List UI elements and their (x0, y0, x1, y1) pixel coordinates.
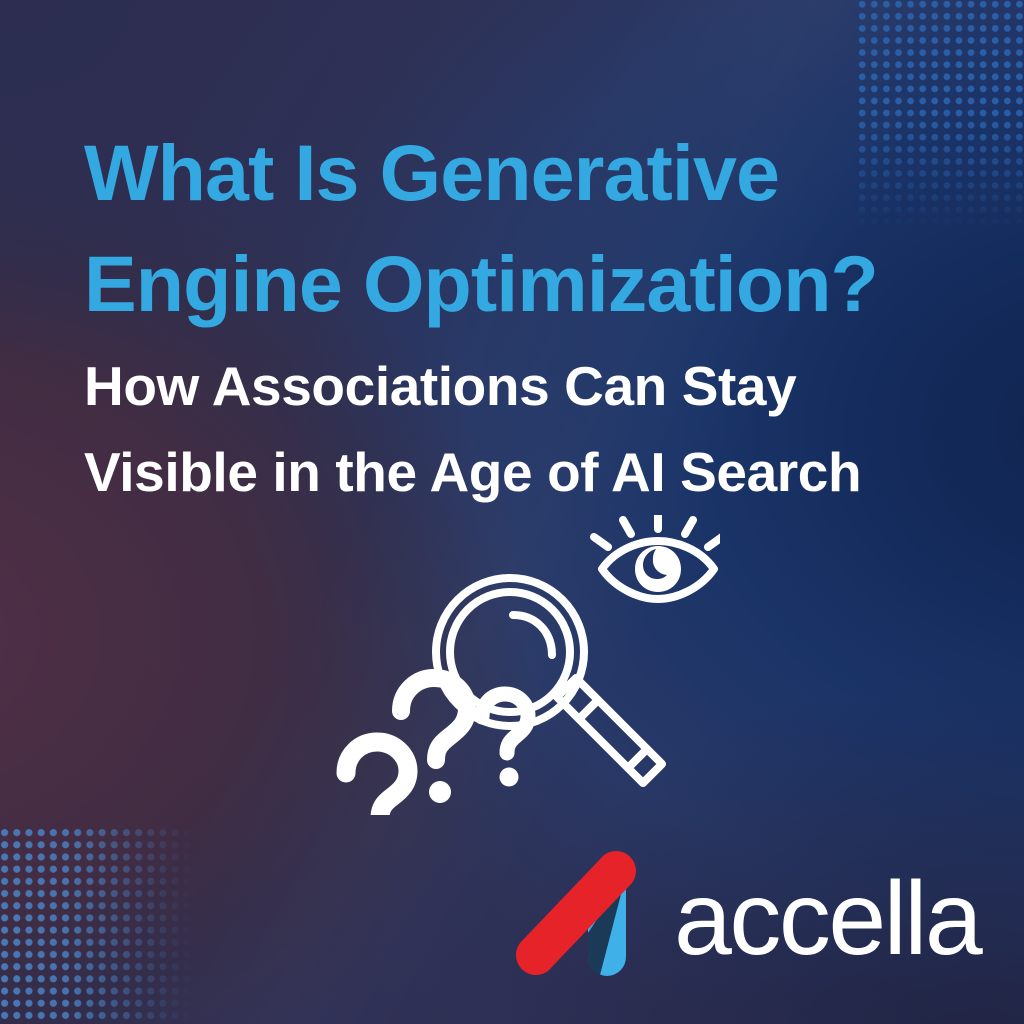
eye-icon (594, 515, 720, 599)
accella-a-mark (508, 845, 660, 985)
subtitle-line-1: How Associations Can Stay (84, 347, 964, 425)
accella-logo[interactable]: accella (508, 845, 968, 985)
accella-wordmark: accella (674, 867, 980, 971)
social-card: What Is Generative Engine Optimization? … (0, 0, 1024, 1024)
headline-line-2: Engine Optimization? (84, 229, 964, 340)
question-mark-small-icon (346, 742, 408, 815)
search-illustration (330, 515, 720, 815)
headline-line-1: What Is Generative (84, 118, 964, 229)
subtitle-line-2: Visible in the Age of AI Search (84, 433, 964, 511)
magnifying-glass-icon (436, 578, 662, 783)
dot-grid-bottom-left (0, 828, 196, 1024)
title-block: What Is Generative Engine Optimization? … (84, 118, 964, 511)
